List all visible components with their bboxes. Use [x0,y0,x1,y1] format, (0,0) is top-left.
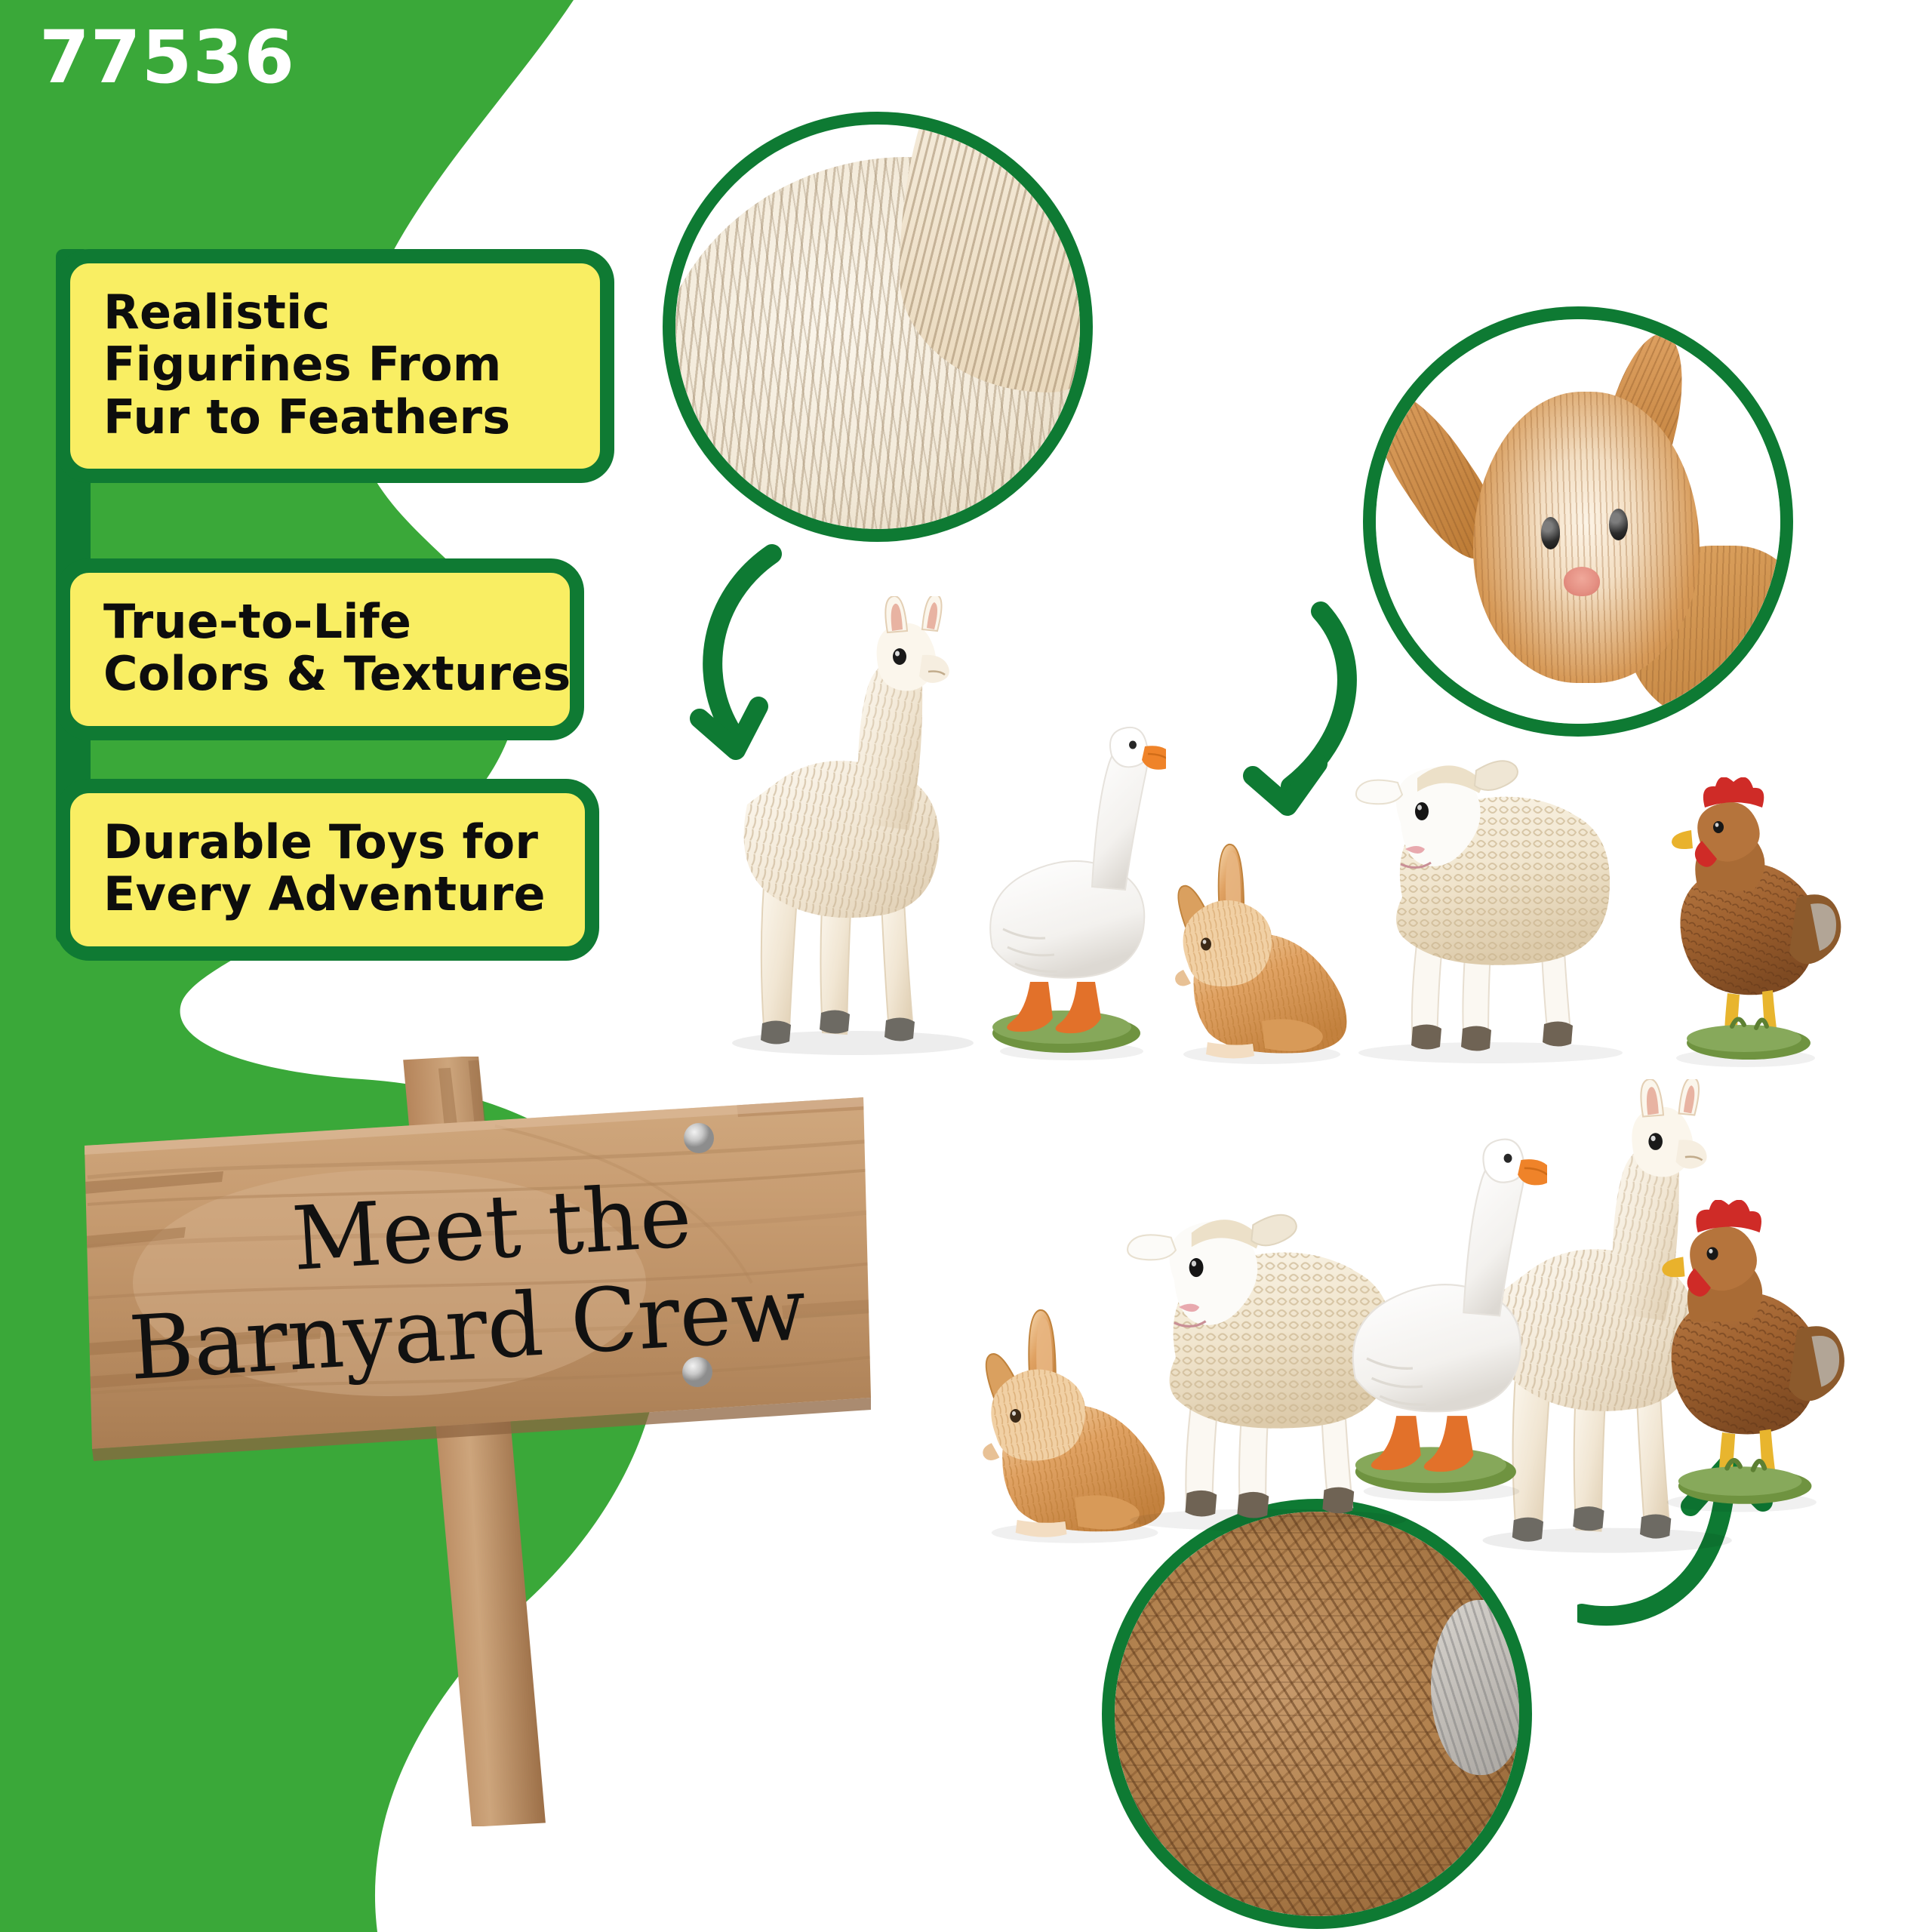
callout-durable-toys: Durable Toys for Every Adventure [56,779,599,961]
callout-line: Durable Toys for [103,816,559,868]
llama-fleece-photo [675,125,1080,529]
callout-realistic-figurines: Realistic Figurines From Fur to Feathers [56,249,614,483]
figurine-chicken-top [1649,777,1845,1075]
chicken-feather-photo [1115,1512,1519,1916]
callout-line: Figurines From [103,338,574,390]
rabbit-eye-right [1609,509,1629,540]
figurine-goose-bottom [1336,1132,1547,1512]
product-sku: 77536 [39,21,295,94]
callout-line: Colors & Textures [103,648,544,700]
callout-line: Every Adventure [103,868,559,920]
rabbit-eye-left [1541,517,1561,549]
wooden-sign: Meet the Barnyard Crew [72,1057,872,1826]
rabbit-nose [1564,567,1600,596]
llama-fleece-closeup-circle [663,112,1093,542]
rabbit-face-closeup-circle [1363,306,1793,737]
figurine-llama-top [702,596,1019,1067]
chicken-feather-texture [1115,1512,1519,1916]
llama-fleece-texture [675,157,1080,529]
callout-line: Fur to Feathers [103,391,574,443]
figurine-sheep-top [1328,736,1645,1071]
product-feature-graphic: 77536 Realistic Figurines From Fur to Fe… [0,0,1932,1932]
callout-line: True-to-Life [103,595,544,648]
figurine-goose-top [977,721,1166,1071]
callout-true-to-life: True-to-Life Colors & Textures [56,558,584,740]
figurine-chicken-bottom [1634,1200,1853,1520]
callout-line: Realistic [103,286,574,338]
rabbit-face-photo [1376,319,1780,724]
rabbit-head [1473,392,1700,683]
